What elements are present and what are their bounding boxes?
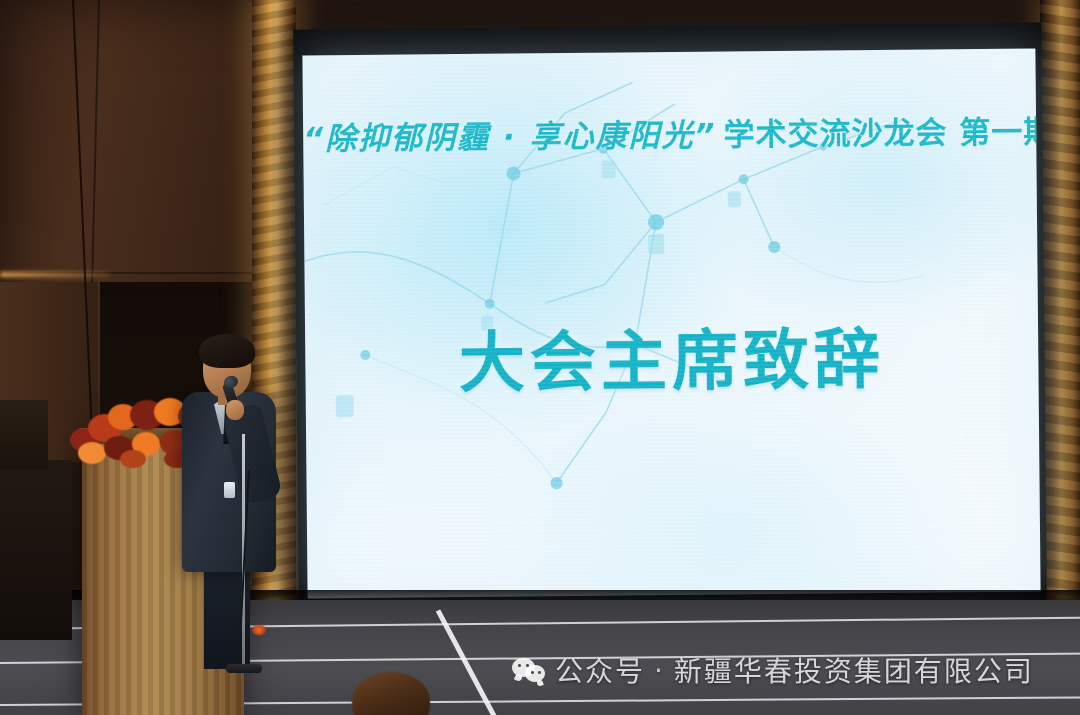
speaker-hand — [226, 400, 244, 420]
slide-heading-quoted: “除抑郁阴霾 · 享心康阳光” — [303, 118, 717, 158]
speaker-hair — [199, 334, 255, 368]
floor-line-diagonal — [436, 609, 511, 715]
stage-equipment-box — [0, 460, 72, 640]
slide-main-title: 大会主席致辞 — [305, 304, 1039, 407]
watermark: 公众号 · 新疆华春投资集团有限公司 — [512, 650, 1034, 690]
microphone-stand-base — [226, 664, 262, 673]
speaker — [176, 334, 284, 634]
projection-screen: “除抑郁阴霾 · 享心康阳光”学术交流沙龙会 第一期 大会主席致辞 — [302, 48, 1040, 598]
slide-heading: “除抑郁阴霾 · 享心康阳光”学术交流沙龙会 第一期 — [303, 106, 1036, 158]
name-badge — [224, 482, 235, 498]
watermark-account: 新疆华春投资集团有限公司 — [674, 650, 1034, 690]
watermark-label: 公众号 — [555, 650, 645, 690]
watermark-separator: · — [654, 654, 665, 687]
stage-equipment-box — [0, 400, 48, 470]
wall-glow-strip — [0, 272, 110, 277]
wechat-icon — [512, 657, 546, 684]
conference-photo: “除抑郁阴霾 · 享心康阳光”学术交流沙龙会 第一期 大会主席致辞 — [0, 0, 1080, 715]
stage-floor-light — [252, 625, 266, 635]
slide-heading-suffix: 学术交流沙龙会 第一期 — [723, 114, 1040, 153]
